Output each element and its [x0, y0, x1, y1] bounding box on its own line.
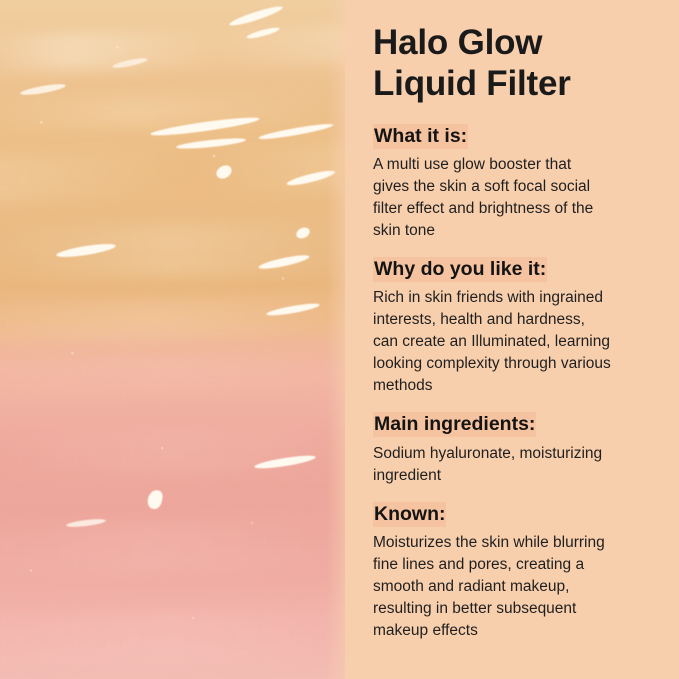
section-body: A multi use glow booster that gives the … [373, 154, 657, 242]
section-body: Moisturizes the skin while blurring fine… [373, 532, 657, 642]
section-body: Sodium hyaluronate, moisturizing ingredi… [373, 443, 657, 487]
section-heading: Known: [373, 503, 446, 525]
section-why-do-you-like-it: Why do you like it: Rich in skin friends… [373, 256, 657, 397]
section-heading-wrap: Main ingredients: [373, 411, 657, 437]
page-title: Halo Glow Liquid Filter [373, 22, 657, 105]
section-heading-wrap: Why do you like it: [373, 256, 657, 282]
product-infographic: Halo Glow Liquid Filter What it is: A mu… [0, 0, 679, 679]
product-description-panel: Halo Glow Liquid Filter What it is: A mu… [345, 0, 679, 679]
section-heading: Main ingredients: [373, 413, 536, 435]
swatch-edge-fade [327, 0, 345, 679]
section-main-ingredients: Main ingredients: Sodium hyaluronate, mo… [373, 411, 657, 486]
section-known: Known: Moisturizes the skin while blurri… [373, 501, 657, 642]
section-heading: Why do you like it: [373, 258, 547, 280]
swatch-shimmer [0, 0, 345, 679]
section-heading: What it is: [373, 125, 468, 147]
title-line-1: Halo Glow [373, 23, 542, 62]
section-heading-wrap: Known: [373, 501, 657, 527]
section-what-it-is: What it is: A multi use glow booster tha… [373, 123, 657, 242]
section-heading-wrap: What it is: [373, 123, 657, 149]
title-line-2: Liquid Filter [373, 64, 571, 103]
product-swatch-image [0, 0, 345, 679]
section-body: Rich in skin friends with ingrained inte… [373, 287, 657, 397]
